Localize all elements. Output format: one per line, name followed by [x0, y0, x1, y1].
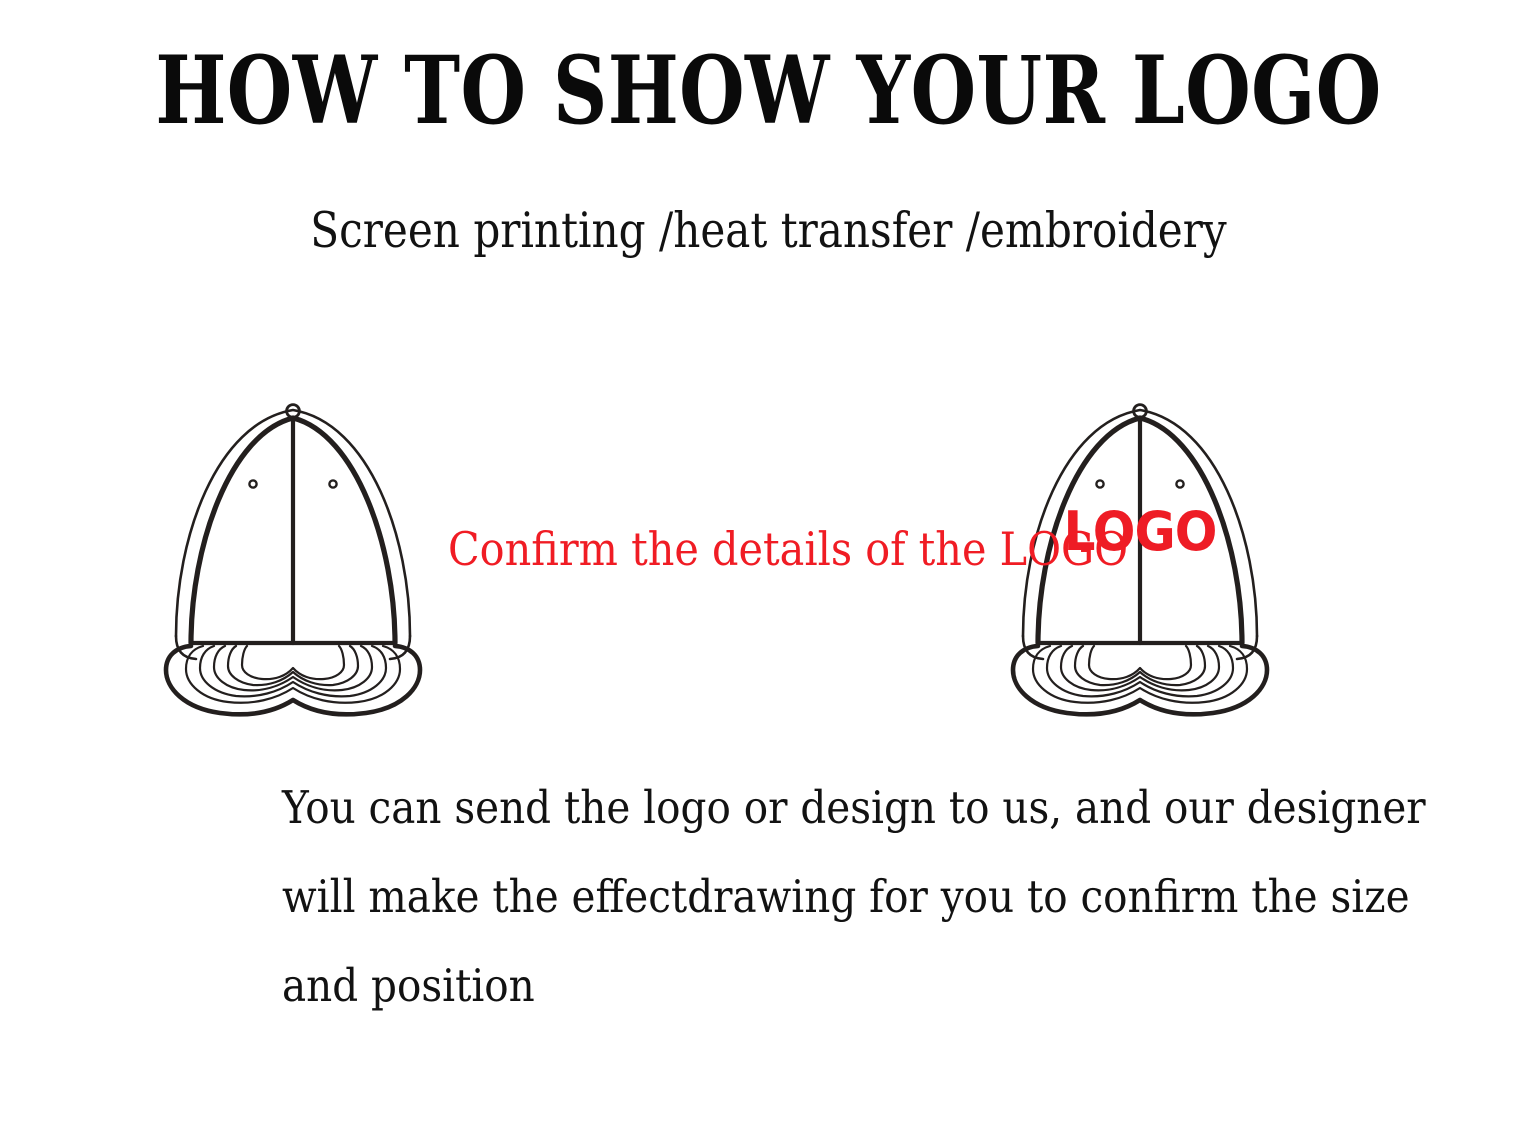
page-subtitle: Screen printing /heat transfer /embroide…: [108, 206, 1430, 255]
body-line-2: will make the effectdrawing for you to c…: [282, 874, 1191, 919]
cap-drawing-left: [158, 388, 428, 718]
page-title: HOW TO SHOW YOUR LOGO: [154, 44, 1384, 138]
body-paragraph: You can send the logo or design to us, a…: [282, 785, 1292, 1008]
slide-canvas: HOW TO SHOW YOUR LOGO Screen printing /h…: [0, 0, 1537, 1124]
body-line-1: You can send the logo or design to us, a…: [282, 785, 1191, 830]
cap-illustration-plain: [158, 388, 428, 718]
confirm-logo-annotation: Confirm the details of the LOGO: [448, 526, 957, 572]
body-line-3: and position: [282, 963, 1191, 1008]
